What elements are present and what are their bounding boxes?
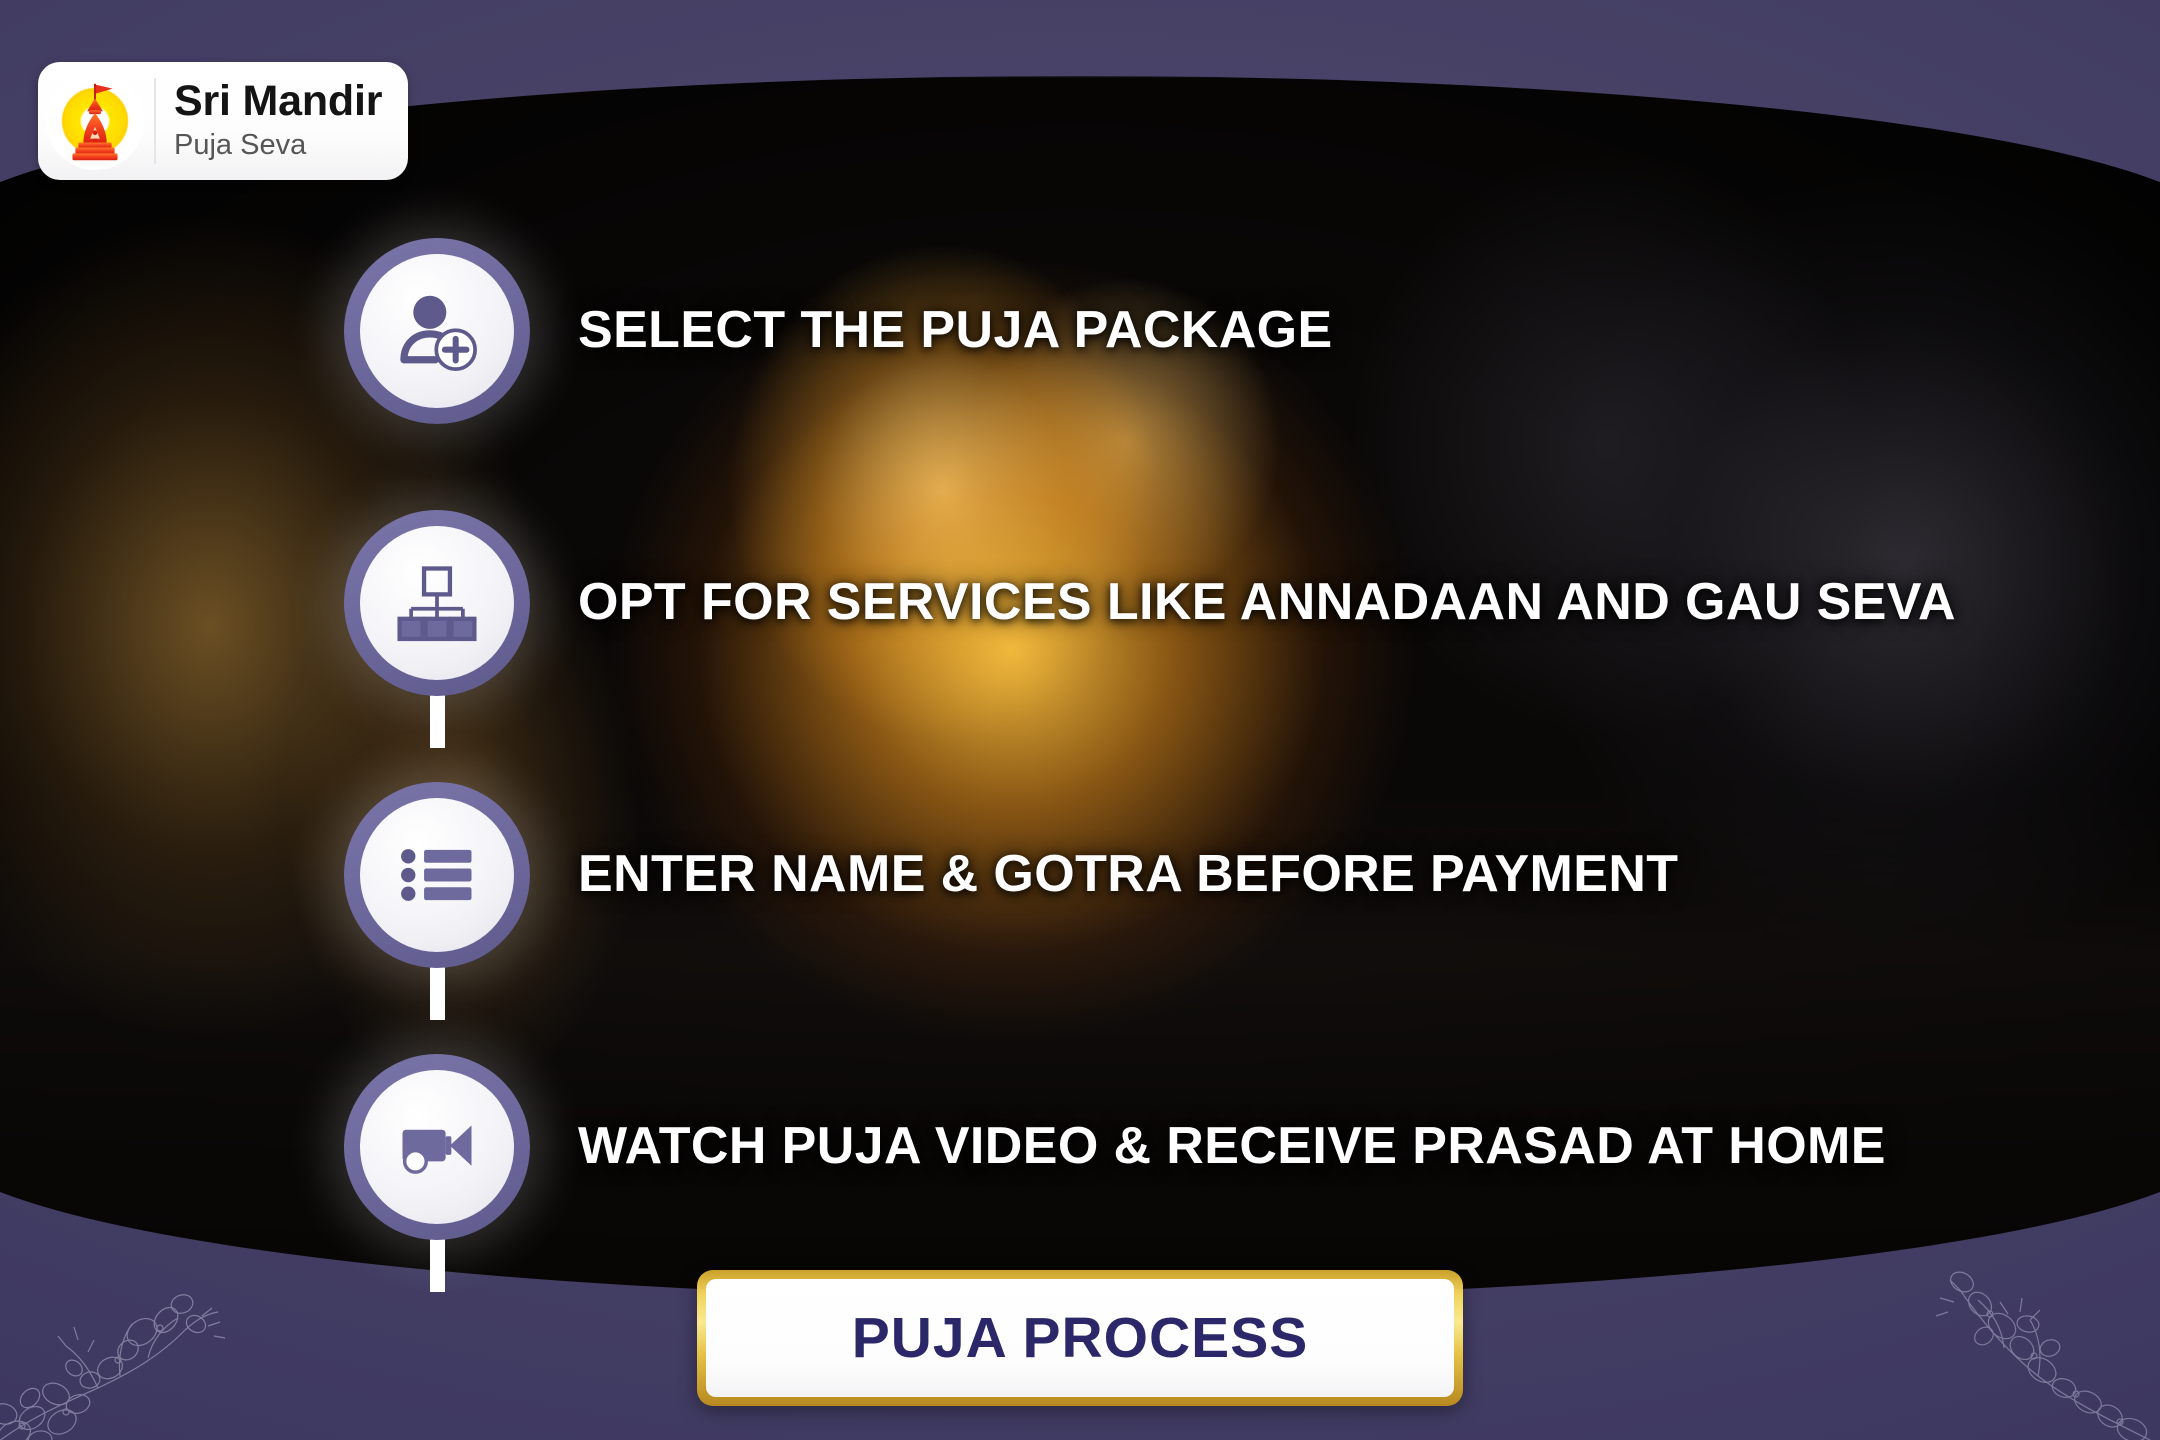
steps-list: SELECT THE PUJA PACKAGE OPT FOR SERVICES… (0, 236, 2160, 1242)
step-badge (344, 782, 530, 968)
step-item[interactable]: WATCH PUJA VIDEO & RECEIVE PRASAD AT HOM… (0, 1052, 2160, 1242)
logo-divider (154, 78, 156, 164)
add-user-icon (391, 285, 483, 377)
sitemap-icon (391, 557, 483, 649)
step-badge (344, 238, 530, 424)
list-icon (391, 829, 483, 921)
step-badge (344, 510, 530, 696)
brand-title: Sri Mandir (174, 79, 382, 124)
step-label: ENTER NAME & GOTRA BEFORE PAYMENT (578, 846, 1678, 903)
step-badge (344, 1054, 530, 1240)
step-label: SELECT THE PUJA PACKAGE (578, 302, 1333, 359)
step-label: OPT FOR SERVICES LIKE ANNADAAN AND GAU S… (578, 574, 1956, 631)
step-item[interactable]: ENTER NAME & GOTRA BEFORE PAYMENT (0, 780, 2160, 970)
video-camera-icon (391, 1101, 483, 1193)
step-label: WATCH PUJA VIDEO & RECEIVE PRASAD AT HOM… (578, 1118, 1886, 1175)
brand-subtitle: Puja Seva (174, 127, 382, 163)
brand-logo-badge[interactable]: Sri Mandir Puja Seva (38, 62, 408, 180)
puja-process-button-label: PUJA PROCESS (852, 1305, 1309, 1371)
step-item[interactable]: SELECT THE PUJA PACKAGE (0, 236, 2160, 426)
temple-icon (46, 72, 144, 170)
puja-process-button[interactable]: PUJA PROCESS (697, 1270, 1463, 1406)
step-item[interactable]: OPT FOR SERVICES LIKE ANNADAAN AND GAU S… (0, 508, 2160, 698)
puja-process-infographic: Sri Mandir Puja Seva SELECT (0, 0, 2160, 1440)
